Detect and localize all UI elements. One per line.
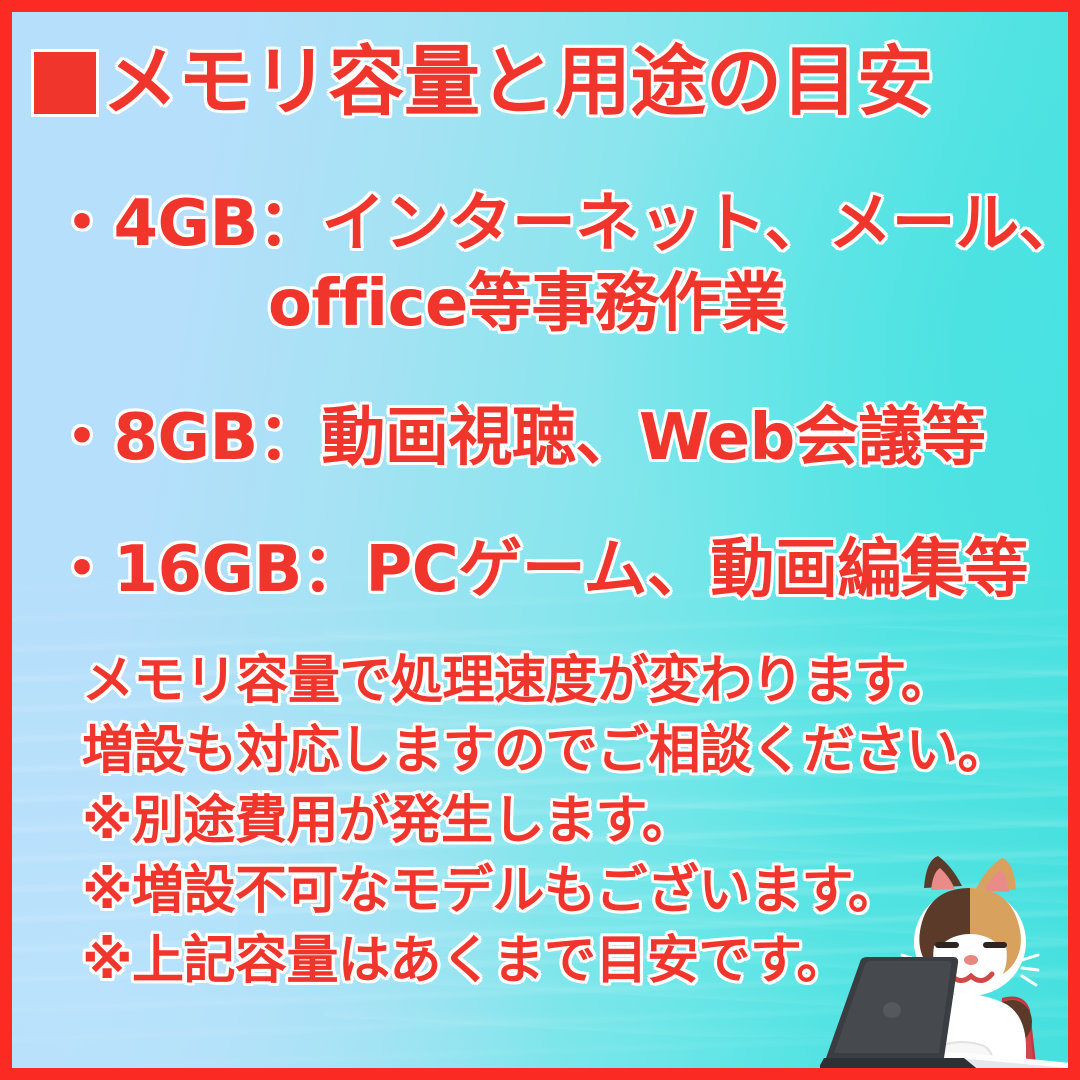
cat-with-laptop-illustration — [820, 850, 1080, 1080]
spec-line-8gb: ・8GB：動画視聴、Web会議等 — [50, 386, 985, 478]
note-line-4: ※増設不可なモデルもございます。 — [82, 848, 899, 923]
page-title-text: メモリ容量と用途の目安 — [102, 37, 933, 126]
poster-canvas: メモリ容量と用途の目安 ・4GB：インターネット、メール、 office等事務作… — [0, 0, 1080, 1080]
square-bullet-icon — [34, 52, 96, 114]
note-line-3: ※別途費用が発生します。 — [82, 778, 693, 853]
spec-line-4gb: ・4GB：インターネット、メール、 — [50, 172, 1080, 264]
cat-eye-left — [935, 942, 959, 948]
cat-nose — [964, 955, 978, 965]
laptop-logo — [883, 1002, 901, 1018]
note-line-5: ※上記容量はあくまで目安です。 — [82, 918, 848, 993]
page-title: メモリ容量と用途の目安 — [34, 40, 933, 124]
spec-line-16gb: ・16GB：PCゲーム、動画編集等 — [50, 518, 1028, 610]
cat-eye-right — [983, 942, 1007, 948]
laptop-keyboard-base — [820, 1058, 986, 1076]
note-line-1: メモリ容量で処理速度が変わります。 — [82, 638, 952, 713]
spec-line-4gb-continued: office等事務作業 — [268, 252, 785, 344]
note-line-2: 増設も対応しますのでご相談ください。 — [82, 708, 1009, 783]
